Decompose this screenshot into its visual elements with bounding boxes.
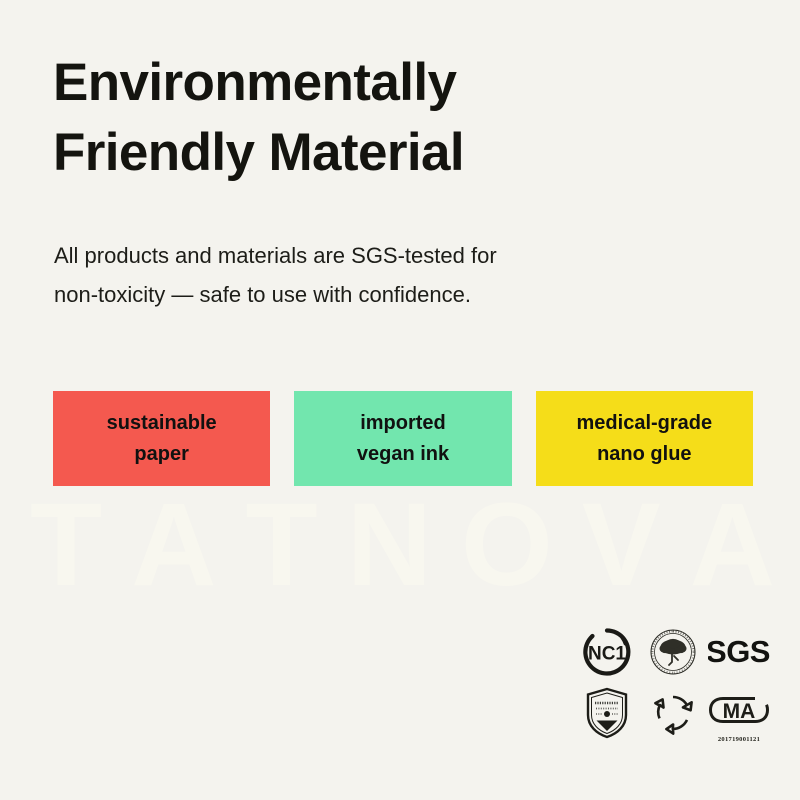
cma-badge-serial: 201719001121 <box>718 736 760 743</box>
page-subtitle-line-1: All products and materials are SGS-teste… <box>54 236 654 275</box>
page-title-line-1: Environmentally <box>53 48 673 118</box>
watermark-letter: T <box>30 486 102 604</box>
page-subtitle: All products and materials are SGS-teste… <box>54 236 654 314</box>
poster-canvas: T A T N O V A Environmentally Friendly M… <box>0 0 800 800</box>
material-chip-medical-grade-nano-glue: medical-grade nano glue <box>536 391 753 486</box>
watermark-letter: N <box>347 486 432 604</box>
material-chip-label-line-2: vegan ink <box>357 439 449 469</box>
material-chip-label-line-2: paper <box>134 439 188 469</box>
tree-icon <box>660 639 687 665</box>
watermark-letter: O <box>461 486 553 604</box>
material-chip-label-line-1: medical-grade <box>577 408 713 438</box>
certification-badge-grid: NC1 <box>574 622 786 744</box>
recycling-certification-badge <box>641 684 705 742</box>
page-subtitle-line-2: non-toxicity — safe to use with confiden… <box>54 275 654 314</box>
nc1-badge-text: NC1 <box>588 644 626 665</box>
shield-certification-badge <box>575 684 639 742</box>
watermark-letter: V <box>582 486 661 604</box>
material-chip-label-line-2: nano glue <box>597 439 691 469</box>
watermark-letter: T <box>246 486 318 604</box>
material-chip-sustainable-paper: sustainable paper <box>53 391 270 486</box>
page-title: Environmentally Friendly Material <box>53 48 673 189</box>
forest-seal-certification-badge <box>641 623 705 681</box>
cma-badge-text: MA <box>723 700 756 723</box>
material-chip-label-line-1: sustainable <box>107 408 217 438</box>
brand-watermark: T A T N O V A <box>30 492 775 597</box>
watermark-letter: A <box>690 486 775 604</box>
watermark-letter: A <box>131 486 216 604</box>
sgs-badge-text: SGS <box>708 634 770 669</box>
nc1-certification-badge: NC1 <box>575 623 639 681</box>
material-chip-group: sustainable paper imported vegan ink med… <box>53 391 753 486</box>
material-chip-imported-vegan-ink: imported vegan ink <box>294 391 511 486</box>
page-title-line-2: Friendly Material <box>53 118 673 188</box>
cma-certification-badge: MA 201719001121 <box>707 684 771 742</box>
sgs-certification-badge: SGS <box>707 623 771 681</box>
material-chip-label-line-1: imported <box>360 408 446 438</box>
